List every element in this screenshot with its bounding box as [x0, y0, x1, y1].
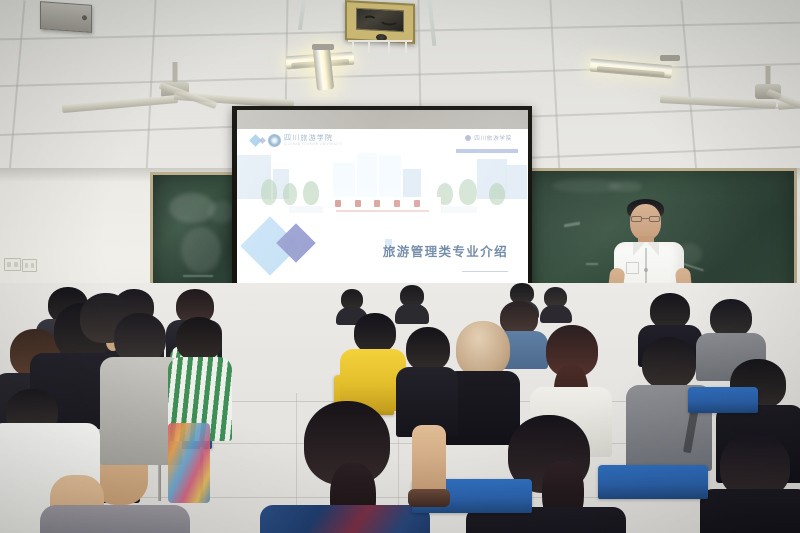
university-seal-icon — [268, 134, 281, 147]
shirt-collar-right — [647, 242, 659, 256]
torso — [700, 489, 800, 533]
cage-bar — [388, 40, 390, 53]
presenter-head — [630, 204, 661, 240]
shirt-button — [644, 268, 648, 272]
cage-bar — [405, 40, 407, 53]
ceiling-fan-left — [70, 62, 280, 112]
eyeglasses-icon — [631, 216, 660, 222]
wall-speaker-box — [40, 1, 92, 33]
chair[interactable] — [598, 465, 708, 519]
audience-area — [0, 283, 800, 533]
projector-cage — [348, 40, 412, 54]
tree — [303, 181, 319, 205]
chair-back — [598, 465, 708, 499]
title-underline — [462, 271, 508, 272]
wall-outlet-lower[interactable] — [22, 259, 37, 272]
chalk-mark — [564, 222, 580, 228]
fan-rod — [173, 62, 178, 84]
building — [333, 163, 355, 199]
head-bald — [456, 321, 510, 377]
campus-photo — [237, 153, 528, 227]
projector-window — [356, 8, 404, 32]
campus-gate-sign — [324, 197, 440, 213]
building — [505, 165, 527, 199]
chair[interactable] — [688, 387, 758, 427]
cage-bar — [368, 40, 370, 53]
fan-blade — [62, 95, 178, 113]
handbag — [168, 423, 210, 503]
university-logo-right: 四川旅游学院 — [465, 134, 512, 142]
head — [354, 313, 396, 353]
projection-screen: 四川旅游学院 SICHUAN TOURISM UNIVERSITY 四川旅游学院 — [232, 106, 532, 306]
light-mount-left — [312, 44, 334, 50]
head — [176, 317, 222, 361]
tree — [459, 179, 477, 205]
shirt-pocket — [626, 262, 639, 274]
wall-outlet-upper[interactable] — [4, 258, 21, 271]
fan-rod — [766, 66, 771, 86]
audience-member-legs — [40, 505, 190, 533]
cage-bar — [352, 40, 354, 53]
trousers — [40, 505, 190, 533]
chalk-mark — [183, 275, 213, 277]
head — [710, 299, 752, 337]
diamond-icon-small — [259, 137, 266, 144]
screen-surface: 四川旅游学院 SICHUAN TOURISM UNIVERSITY 四川旅游学院 — [237, 110, 528, 301]
campus-ground — [237, 213, 528, 227]
dot-icon — [465, 135, 471, 141]
slide-title: 旅游管理类专业介绍 — [383, 241, 508, 260]
shoe — [408, 489, 450, 507]
chair-back — [688, 387, 758, 413]
leg — [412, 425, 446, 499]
ceiling-fan-right — [650, 66, 800, 116]
logo-left-label-cn: 四川旅游学院 — [284, 135, 342, 142]
audience-member — [700, 433, 800, 533]
head — [114, 313, 166, 363]
head — [642, 337, 696, 389]
shirt-collar-left — [633, 242, 645, 256]
building — [379, 155, 401, 199]
chalk-mark — [586, 263, 598, 265]
light-mount-center — [660, 55, 680, 61]
torso — [260, 505, 430, 533]
logo-left-label-en: SICHUAN TOURISM UNIVERSITY — [284, 143, 342, 146]
projector-cable-2 — [379, 13, 399, 26]
university-logo-left: 四川旅游学院 SICHUAN TOURISM UNIVERSITY — [251, 134, 342, 147]
chalk-smudge — [181, 227, 221, 273]
logo-right-label-cn: 四川旅游学院 — [474, 134, 512, 142]
building — [403, 169, 421, 199]
building — [357, 153, 377, 199]
ceiling-projector — [345, 0, 415, 44]
audience-member-aisle — [404, 339, 460, 489]
cage-bar — [348, 40, 412, 42]
gate-sign-subtext — [336, 210, 429, 212]
tree — [283, 183, 297, 205]
projector-cable — [363, 15, 377, 26]
chalk-smudge — [608, 181, 642, 192]
audience-member — [168, 317, 232, 437]
tree — [261, 179, 277, 205]
presentation-slide: 四川旅游学院 SICHUAN TOURISM UNIVERSITY 四川旅游学院 — [237, 129, 528, 289]
tree — [489, 183, 505, 205]
head — [650, 293, 690, 329]
classroom-photo: 四川旅游学院 SICHUAN TOURISM UNIVERSITY 四川旅游学院 — [0, 0, 800, 533]
